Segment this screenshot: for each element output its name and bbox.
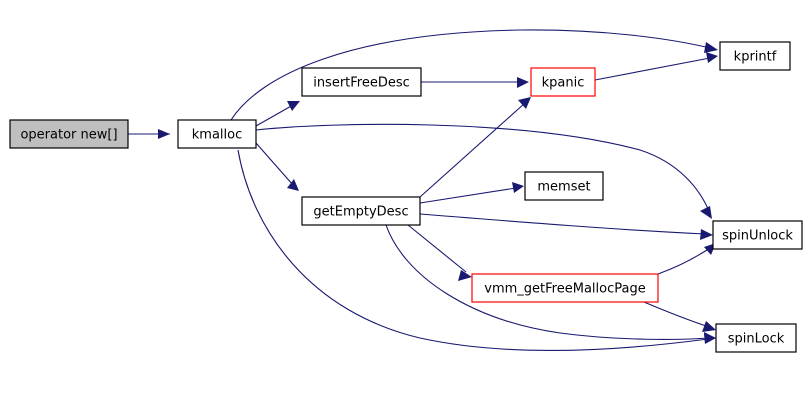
node-kpanic[interactable]: kpanic (531, 68, 595, 96)
edge-getemptydesc-to-kpanic (420, 97, 531, 197)
edge-line (420, 214, 705, 234)
edge-line (658, 248, 710, 274)
node-getemptydesc[interactable]: getEmptyDesc (302, 197, 420, 225)
node-rect[interactable] (720, 42, 790, 70)
node-insertfreedesc[interactable]: insertFreeDesc (302, 68, 421, 96)
edge-line (420, 103, 525, 197)
edge-getemptydesc-to-memset (420, 182, 524, 203)
edge-getemptydesc-to-vmm-getfreemallocpage (408, 225, 472, 281)
call-graph-svg: operator new[]kmallocinsertFreeDesckpani… (0, 0, 808, 407)
node-spinunlock[interactable]: spinUnlock (713, 221, 802, 249)
arrowhead-icon (287, 101, 300, 111)
node-kmalloc[interactable]: kmalloc (178, 120, 256, 148)
call-graph-canvas: operator new[]kmallocinsertFreeDesckpani… (0, 0, 808, 407)
edge-vmm-getfreemallocpage-to-spinlock (644, 302, 716, 332)
edge-line (408, 225, 466, 272)
edge-kpanic-to-kprintf (595, 52, 718, 80)
node-rect[interactable] (716, 324, 796, 352)
edge-line (256, 105, 293, 126)
edge-line (644, 302, 709, 327)
edge-insertfreedesc-to-kpanic (421, 77, 529, 88)
arrowhead-icon (704, 332, 716, 343)
edge-operator-new-to-kmalloc (128, 129, 170, 139)
node-rect[interactable] (525, 172, 603, 200)
arrowhead-icon (700, 229, 713, 240)
edge-line (238, 150, 708, 350)
arrowhead-icon (702, 321, 716, 332)
edge-vmm-getfreemallocpage-to-spinunlock (658, 243, 716, 274)
edge-kmalloc-to-getemptydesc (256, 143, 299, 191)
node-rect[interactable] (302, 197, 420, 225)
arrowhead-icon (512, 182, 524, 193)
node-rect[interactable] (472, 274, 658, 302)
node-rect[interactable] (10, 120, 128, 148)
node-kprintf[interactable]: kprintf (720, 42, 790, 70)
arrowhead-icon (706, 52, 718, 63)
edge-line (420, 188, 516, 203)
edge-line (595, 58, 710, 80)
node-rect[interactable] (178, 120, 256, 148)
arrowhead-icon (517, 77, 529, 88)
arrowhead-icon (700, 206, 712, 219)
edge-line (256, 143, 293, 185)
node-rect[interactable] (713, 221, 802, 249)
node-vmm-getfreemallocpage[interactable]: vmm_getFreeMallocPage (472, 274, 658, 302)
arrowhead-icon (158, 129, 170, 139)
nodes-layer: operator new[]kmallocinsertFreeDesckpani… (10, 42, 802, 352)
node-rect[interactable] (302, 68, 421, 96)
node-rect[interactable] (531, 68, 595, 96)
node-operator-new[interactable]: operator new[] (10, 120, 128, 148)
node-memset[interactable]: memset (525, 172, 603, 200)
node-spinlock[interactable]: spinLock (716, 324, 796, 352)
edge-kmalloc-to-insertfreedesc (256, 101, 300, 126)
edge-kmalloc-to-spinlock (238, 150, 716, 350)
arrowhead-icon (704, 42, 718, 53)
edge-getemptydesc-to-spinunlock (420, 214, 713, 240)
